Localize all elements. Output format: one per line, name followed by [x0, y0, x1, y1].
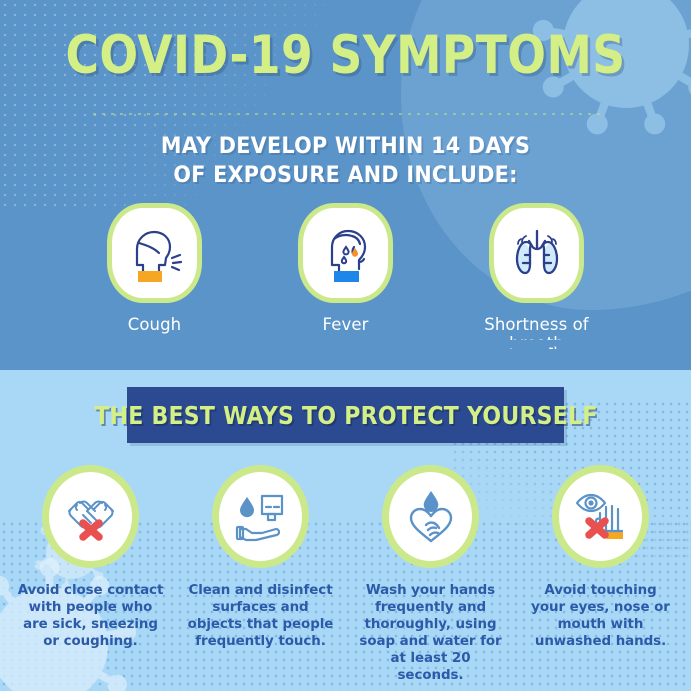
- symptom-label: Shortness of breath: [481, 315, 593, 353]
- tip-icon-card: [382, 465, 479, 568]
- symptom-item-fever[interactable]: Fever: [290, 203, 402, 353]
- tip-caption: Clean and disinfect surfaces and objects…: [187, 582, 335, 650]
- disinfect-spray-hand-icon: [229, 485, 293, 549]
- tip-item-clean-disinfect[interactable]: Clean and disinfect surfaces and objects…: [187, 465, 335, 684]
- sweating-head-icon: [310, 217, 382, 289]
- dotted-divider: [90, 112, 602, 116]
- covid-symptoms-infographic: COVID-19 SYMPTOMS MAY DEVELOP WITHIN 14 …: [0, 0, 691, 691]
- coughing-head-icon: [119, 217, 191, 289]
- no-touching-face-icon: [569, 485, 633, 549]
- symptom-label: Cough: [99, 315, 211, 334]
- page-title: COVID-19 SYMPTOMS: [48, 26, 642, 86]
- protection-section: THE BEST WAYS TO PROTECT YOURSELF: [0, 370, 691, 691]
- tip-caption: Avoid touching your eyes, nose or mouth …: [527, 582, 675, 650]
- page-subtitle: MAY DEVELOP WITHIN 14 DAYS OF EXPOSURE A…: [28, 132, 664, 190]
- protect-yourself-banner: THE BEST WAYS TO PROTECT YOURSELF: [127, 387, 564, 443]
- no-handshake-icon: [59, 485, 123, 549]
- lungs-icon: [501, 217, 573, 289]
- banner-heading: THE BEST WAYS TO PROTECT YOURSELF: [94, 401, 597, 430]
- tip-item-wash-hands[interactable]: Wash your hands frequently and thoroughl…: [357, 465, 505, 684]
- subtitle-line-1: MAY DEVELOP WITHIN 14 DAYS: [28, 132, 664, 161]
- symptom-icon-card: [107, 203, 202, 303]
- protection-tips-list: Avoid close contact with people who are …: [0, 465, 691, 684]
- subtitle-line-2: OF EXPOSURE AND INCLUDE:: [28, 161, 664, 190]
- tip-icon-card: [212, 465, 309, 568]
- washing-hands-icon: [399, 485, 463, 549]
- tip-icon-card: [552, 465, 649, 568]
- tip-caption: Wash your hands frequently and thoroughl…: [357, 582, 505, 684]
- tip-item-avoid-close-contact[interactable]: Avoid close contact with people who are …: [17, 465, 165, 684]
- tip-icon-card: [42, 465, 139, 568]
- symptoms-section: COVID-19 SYMPTOMS MAY DEVELOP WITHIN 14 …: [0, 0, 691, 370]
- symptom-label: Fever: [290, 315, 402, 334]
- tip-item-avoid-touching-face[interactable]: Avoid touching your eyes, nose or mouth …: [527, 465, 675, 684]
- symptom-item-cough[interactable]: Cough: [99, 203, 211, 353]
- tip-caption: Avoid close contact with people who are …: [17, 582, 165, 650]
- symptom-icon-card: [489, 203, 584, 303]
- symptom-item-shortness-of-breath[interactable]: Shortness of breath: [481, 203, 593, 353]
- symptoms-list: Cough: [0, 203, 691, 353]
- symptom-icon-card: [298, 203, 393, 303]
